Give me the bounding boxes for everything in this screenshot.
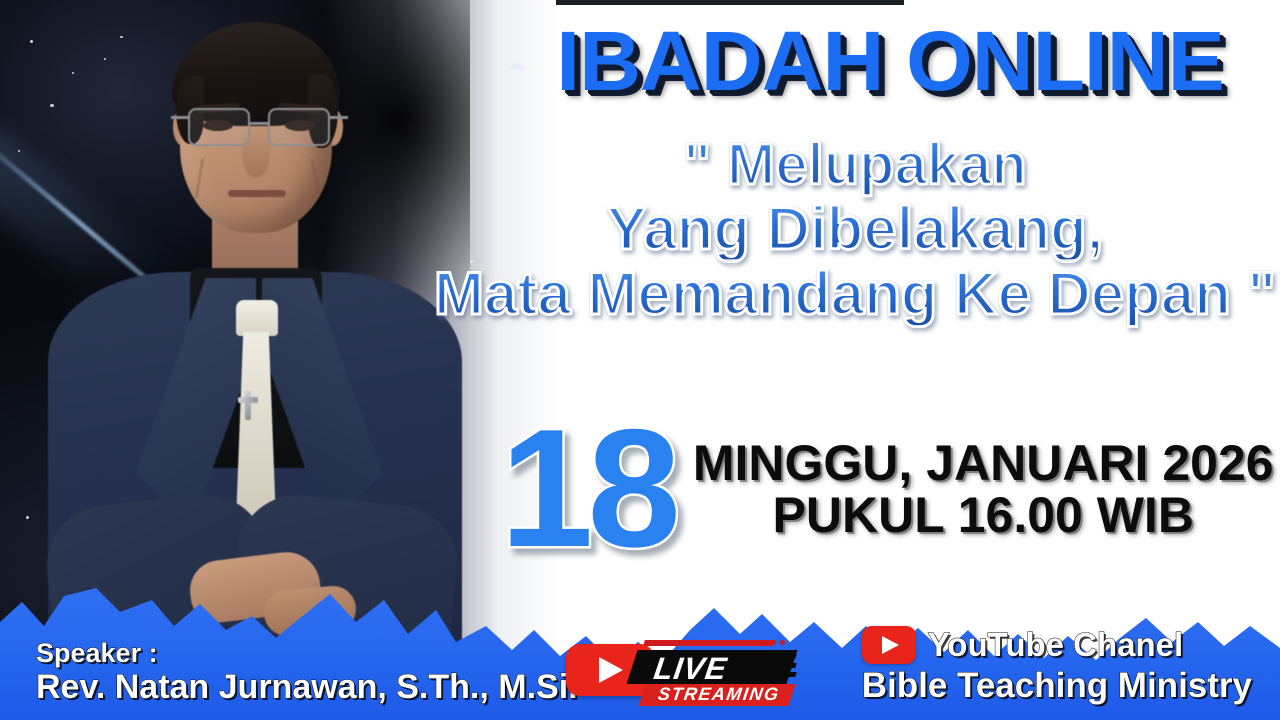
youtube-channel-label: YouTube Chanel (928, 626, 1183, 664)
date-time-text: MINGGU, JANUARI 2026 PUKUL 16.00 WIB (693, 437, 1274, 541)
sparkle-dot (26, 516, 29, 519)
eyeglasses-icon (188, 108, 250, 146)
speaker-credit: Speaker : Rev. Natan Jurnawan, S.Th., M.… (36, 639, 578, 706)
youtube-channel-name: Bible Teaching Ministry (862, 666, 1252, 706)
youtube-icon[interactable] (862, 626, 916, 664)
flyer-canvas: IBADAH ONLINE " Melupakan Yang Dibelakan… (0, 0, 1280, 720)
top-edge-bar (556, 0, 904, 5)
youtube-channel-row[interactable]: YouTube Chanel (862, 626, 1252, 664)
time-line: PUKUL 16.00 WIB (693, 489, 1274, 541)
youtube-channel-block[interactable]: YouTube Chanel Bible Teaching Ministry (862, 626, 1252, 706)
schedule-block: 18 MINGGU, JANUARI 2026 PUKUL 16.00 WIB (500, 420, 1220, 558)
sermon-theme-line-2: Yang Dibelakang, (430, 198, 1280, 259)
streaming-label: STREAMING (657, 684, 781, 705)
sparkle-dot (18, 150, 20, 152)
live-accent-line (643, 640, 775, 646)
day-number: 18 (500, 420, 675, 558)
page-title: IBADAH ONLINE (513, 22, 1268, 102)
live-accent-dots (762, 640, 785, 645)
speed-line-icon (765, 672, 797, 677)
live-streaming-logo[interactable]: LIVE STREAMING (566, 632, 796, 706)
live-label: LIVE (651, 651, 729, 687)
sermon-theme-line-1: " Melupakan (430, 135, 1280, 194)
speed-line-icon (765, 654, 797, 659)
speaker-label: Speaker : (36, 639, 578, 669)
eyeglasses-icon (268, 108, 330, 146)
sermon-theme-line-3: Mata Memandang Ke Depan " (430, 263, 1280, 324)
speed-line-icon (771, 663, 797, 668)
cross-pin-icon (238, 390, 258, 420)
sermon-theme: " Melupakan Yang Dibelakang, Mata Memand… (430, 135, 1280, 325)
date-line: MINGGU, JANUARI 2026 (693, 437, 1274, 489)
sparkle-dot (30, 40, 33, 43)
speaker-name: Rev. Natan Jurnawan, S.Th., M.Si. (36, 669, 578, 706)
